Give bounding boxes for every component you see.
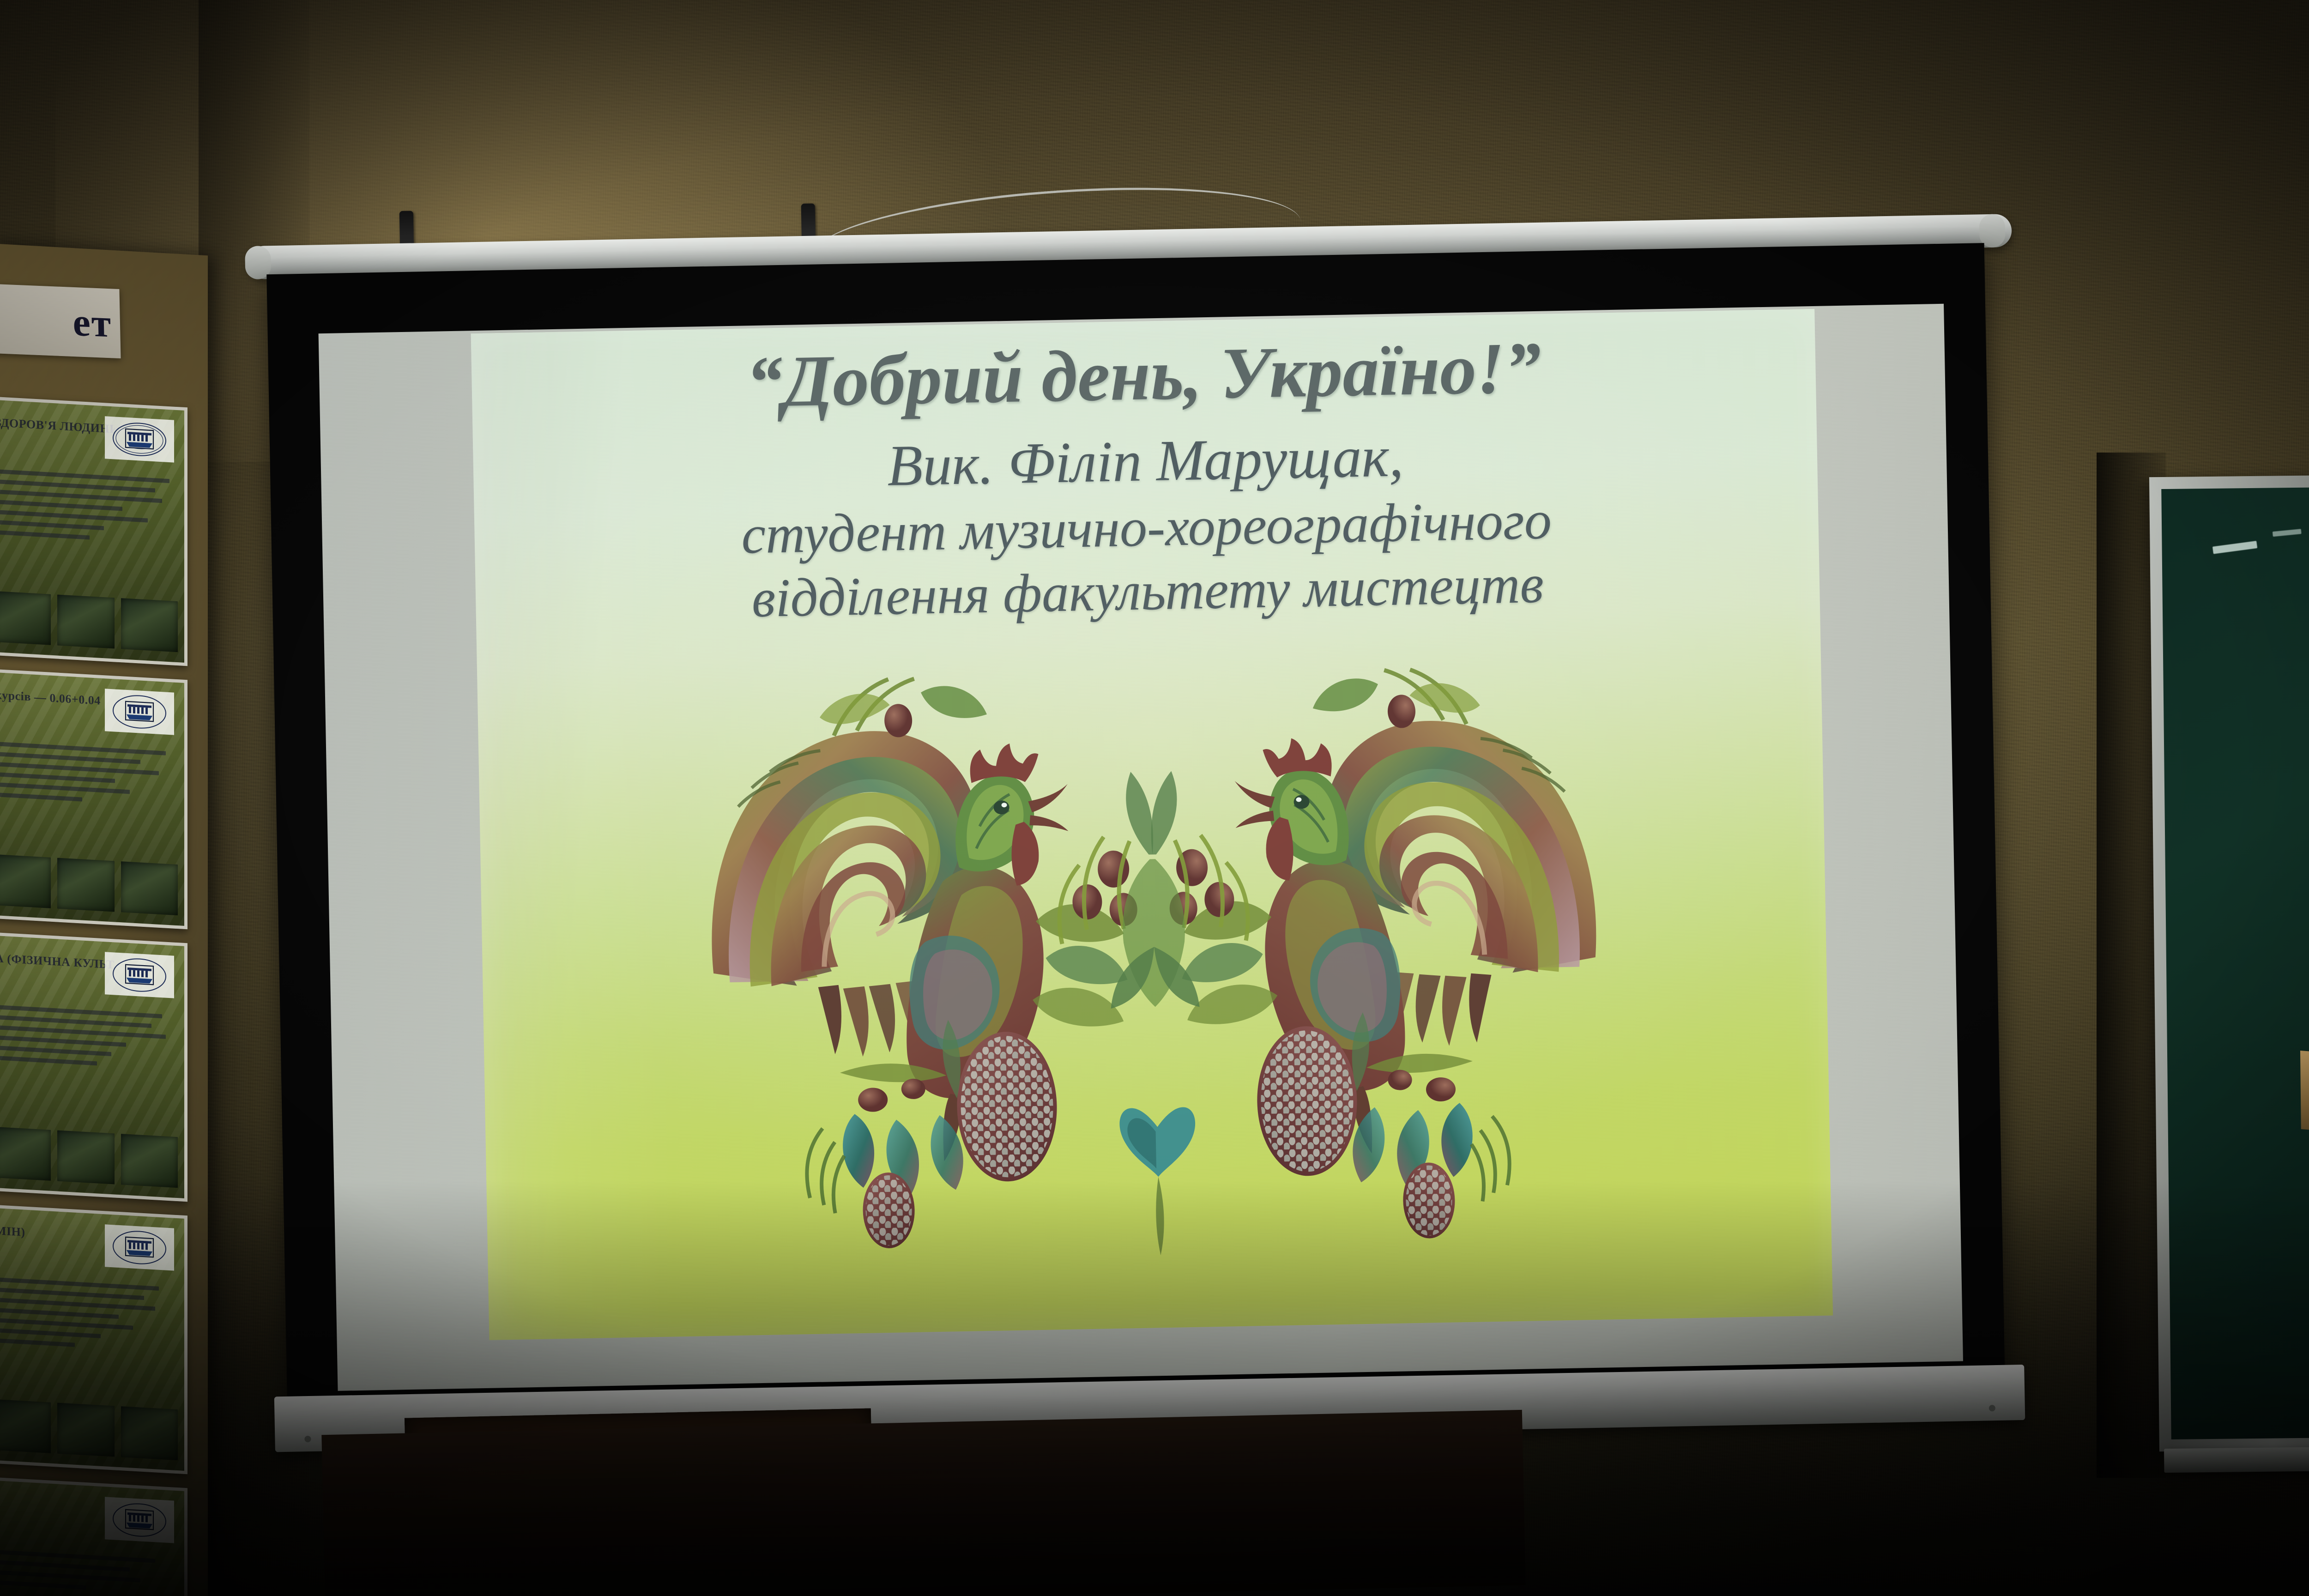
poster-2-title: курсів — 0.06+0.04 <box>0 688 115 709</box>
screen-mount-hook-left <box>399 211 414 247</box>
poster-1-photo-strip <box>0 591 178 652</box>
wall-sign-label: ет <box>73 299 112 347</box>
poster-2-text-lines <box>0 742 177 813</box>
university-emblem-icon <box>105 952 174 998</box>
poster-3-text-lines <box>0 1005 177 1076</box>
slide-title: “Добрий день, Україно!” <box>471 326 1816 425</box>
poster-1[interactable]: ЗДОРОВ'Я ЛЮДИНИ) <box>0 396 187 666</box>
poster-2-photo-strip <box>0 854 178 915</box>
poster-1-text-lines <box>0 469 177 550</box>
wall-sign: ет <box>0 284 121 358</box>
slide-text-block: “Добрий день, Україно!” Вик. Філіп Марущ… <box>471 326 1820 635</box>
classroom-photo: ет ЗДОРОВ'Я ЛЮДИНИ) курсів <box>0 0 2309 1596</box>
poster-3[interactable]: А (ФІЗИЧНА КУЛЬТУРА) <box>0 932 187 1202</box>
poster-1-title: ЗДОРОВ'Я ЛЮДИНИ) <box>0 416 115 436</box>
lower-wall-shadow <box>0 1180 2309 1596</box>
screen-mount-hook-right <box>801 204 816 240</box>
university-emblem-icon <box>105 689 174 735</box>
poster-2[interactable]: курсів — 0.06+0.04 <box>0 669 187 930</box>
chalkboard-wood-object <box>2300 1051 2309 1138</box>
poster-3-photo-strip <box>0 1127 178 1188</box>
university-emblem-icon <box>105 416 174 462</box>
poster-3-title: А (ФІЗИЧНА КУЛЬТУРА) <box>0 951 115 972</box>
